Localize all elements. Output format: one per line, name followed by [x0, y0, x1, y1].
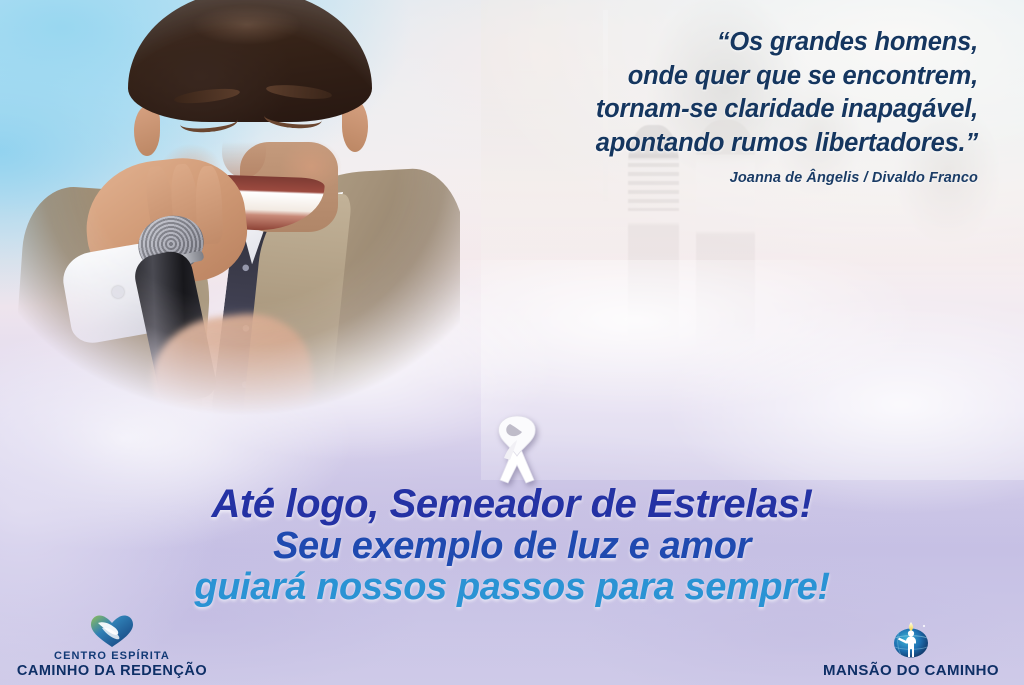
memorial-poster: “Os grandes homens, onde quer que se enc…	[0, 0, 1024, 685]
headline-line-2: Seu exemplo de luz e amor	[0, 527, 1024, 566]
logo-centro-espirita: CENTRO ESPÍRITA CAMINHO DA REDENÇÃO	[6, 614, 218, 679]
quote-text: “Os grandes homens, onde quer que se enc…	[438, 26, 978, 161]
nose	[222, 126, 266, 178]
logo-mansao-do-caminho: MANSÃO DO CAMINHO	[800, 620, 1022, 679]
hair-highlight	[184, 2, 310, 48]
quote-line-2: onde quer que se encontrem,	[438, 60, 978, 94]
memorial-headline: Até logo, Semeador de Estrelas! Seu exem…	[0, 484, 1024, 607]
portrait-divaldo-franco	[8, 0, 460, 424]
mourning-ribbon-icon	[486, 410, 548, 486]
cuff-button	[112, 286, 124, 298]
headline-line-1: Até logo, Semeador de Estrelas!	[0, 484, 1024, 525]
heart-hands-icon	[89, 614, 135, 648]
headline-line-3: guiará nossos passos para sempre!	[0, 568, 1024, 607]
logo-right-line-2: MANSÃO DO CAMINHO	[800, 662, 1022, 679]
quote-line-3: tornam-se claridade inapagável,	[438, 93, 978, 127]
logo-left-line-2: CAMINHO DA REDENÇÃO	[6, 663, 218, 679]
quote-line-1: “Os grandes homens,	[438, 26, 978, 60]
quote-attribution: Joanna de Ângelis / Divaldo Franco	[438, 170, 978, 186]
quote-line-4: apontando rumos libertadores.”	[438, 127, 978, 161]
logo-left-line-1: CENTRO ESPÍRITA	[6, 650, 218, 662]
globe-figure-icon	[889, 620, 933, 660]
